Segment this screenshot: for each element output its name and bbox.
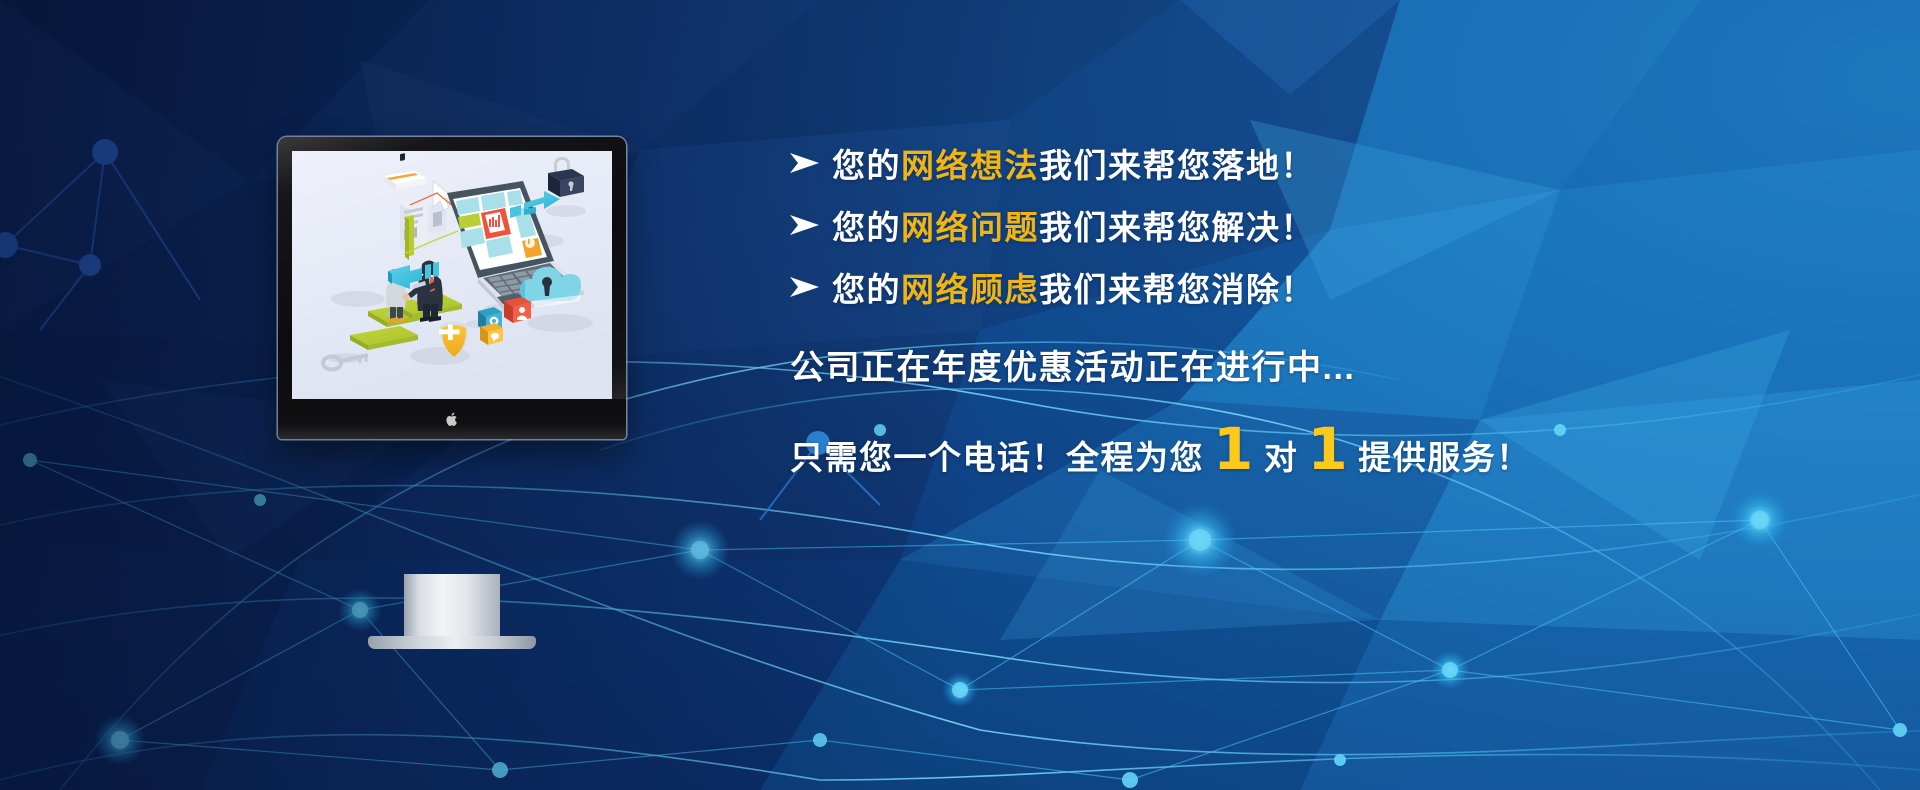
- bullet-item-3: 您的网络顾虑我们来帮您消除！: [790, 256, 1800, 318]
- bullet-3-before: 您的: [832, 271, 901, 308]
- arrow-bullet-icon: [790, 214, 832, 236]
- bullet-text-3: 您的网络顾虑我们来帮您消除！: [832, 263, 1315, 311]
- bullet-3-after: 我们来帮您消除！: [1039, 271, 1315, 308]
- callout-number-1: 1: [1204, 423, 1264, 475]
- bullet-1-after: 我们来帮您落地！: [1039, 147, 1315, 184]
- bullet-2-before: 您的: [832, 209, 901, 246]
- bullet-1-highlight: 网络想法: [901, 147, 1039, 184]
- bullet-item-2: 您的网络问题我们来帮您解决！: [790, 194, 1800, 256]
- monitor-chin: [278, 399, 626, 439]
- callout-part2: 提供服务！: [1358, 431, 1531, 479]
- callout-line: 只需您一个电话！全程为您 1 对 1 提供服务！: [790, 423, 1800, 479]
- callout-mid: 对: [1264, 431, 1299, 479]
- monitor-screen: [292, 151, 612, 399]
- stand-neck: [404, 574, 500, 642]
- bullet-2-highlight: 网络问题: [901, 209, 1039, 246]
- arrow-bullet-icon: [790, 152, 832, 174]
- imac-monitor: [278, 137, 626, 439]
- promo-line: 公司正在年度优惠活动正在进行中...: [790, 340, 1800, 389]
- stand-foot: [368, 636, 536, 649]
- bullet-1-before: 您的: [832, 147, 901, 184]
- bullet-text-2: 您的网络问题我们来帮您解决！: [832, 201, 1315, 249]
- callout-number-2: 1: [1298, 423, 1358, 475]
- bullet-text-1: 您的网络想法我们来帮您落地！: [832, 139, 1315, 187]
- apple-logo-icon: [446, 412, 459, 427]
- bullet-3-highlight: 网络顾虑: [901, 271, 1039, 308]
- bullet-2-after: 我们来帮您解决！: [1039, 209, 1315, 246]
- hero-banner: 您的网络想法我们来帮您落地！ 您的网络问题我们来帮您解决！ 您的网络顾虑我们来帮…: [0, 0, 1920, 790]
- callout-part1: 只需您一个电话！全程为您: [790, 431, 1204, 479]
- marketing-copy: 您的网络想法我们来帮您落地！ 您的网络问题我们来帮您解决！ 您的网络顾虑我们来帮…: [790, 132, 1800, 479]
- bullet-item-1: 您的网络想法我们来帮您落地！: [790, 132, 1800, 194]
- screen-illustration: [292, 151, 612, 399]
- arrow-bullet-icon: [790, 276, 832, 298]
